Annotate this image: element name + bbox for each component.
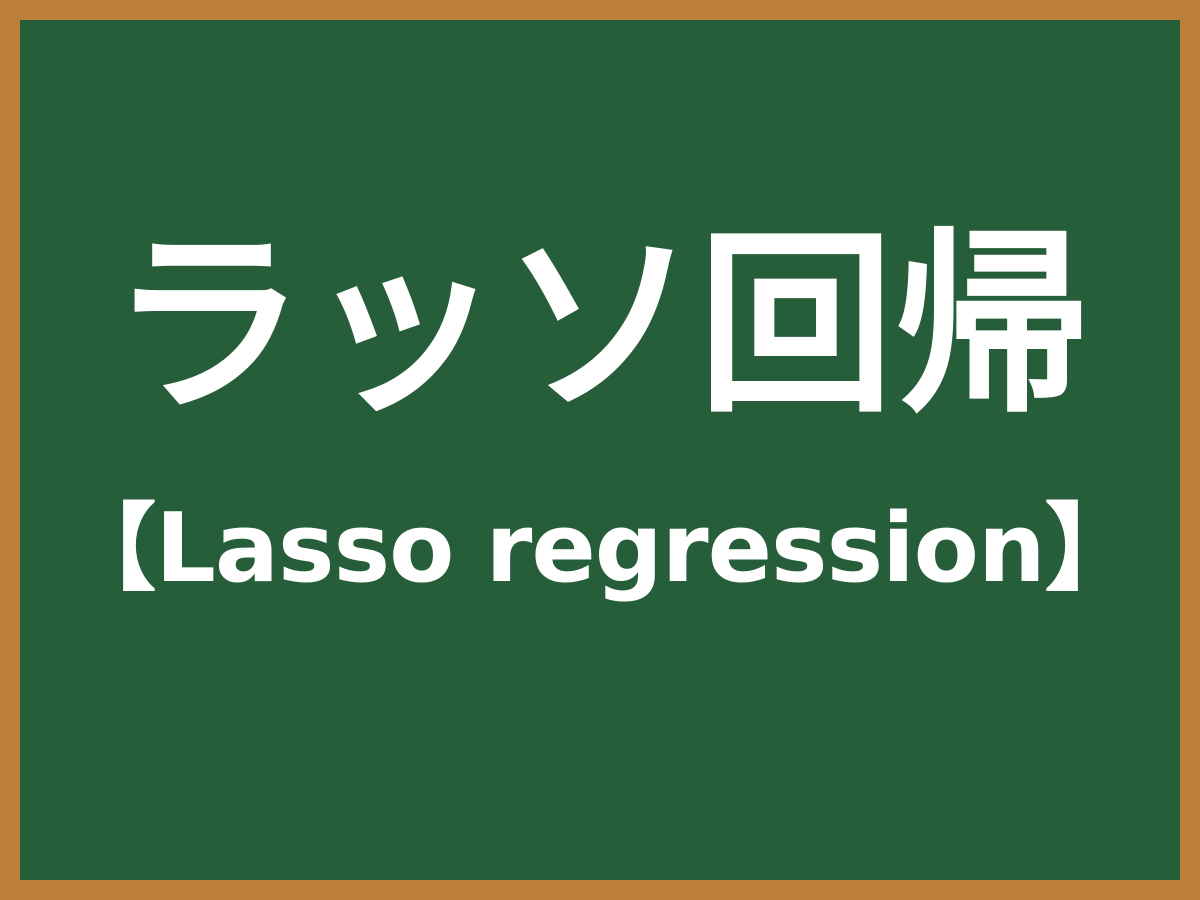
chalkboard-panel: ラッソ回帰 【Lasso regression】 xyxy=(20,20,1180,880)
title-text-stack: ラッソ回帰 【Lasso regression】 xyxy=(20,228,1180,597)
subtitle-english-bracketed: 【Lasso regression】 xyxy=(61,502,1138,597)
title-card-canvas: ラッソ回帰 【Lasso regression】 xyxy=(0,0,1200,900)
headline-japanese: ラッソ回帰 xyxy=(110,228,1090,424)
